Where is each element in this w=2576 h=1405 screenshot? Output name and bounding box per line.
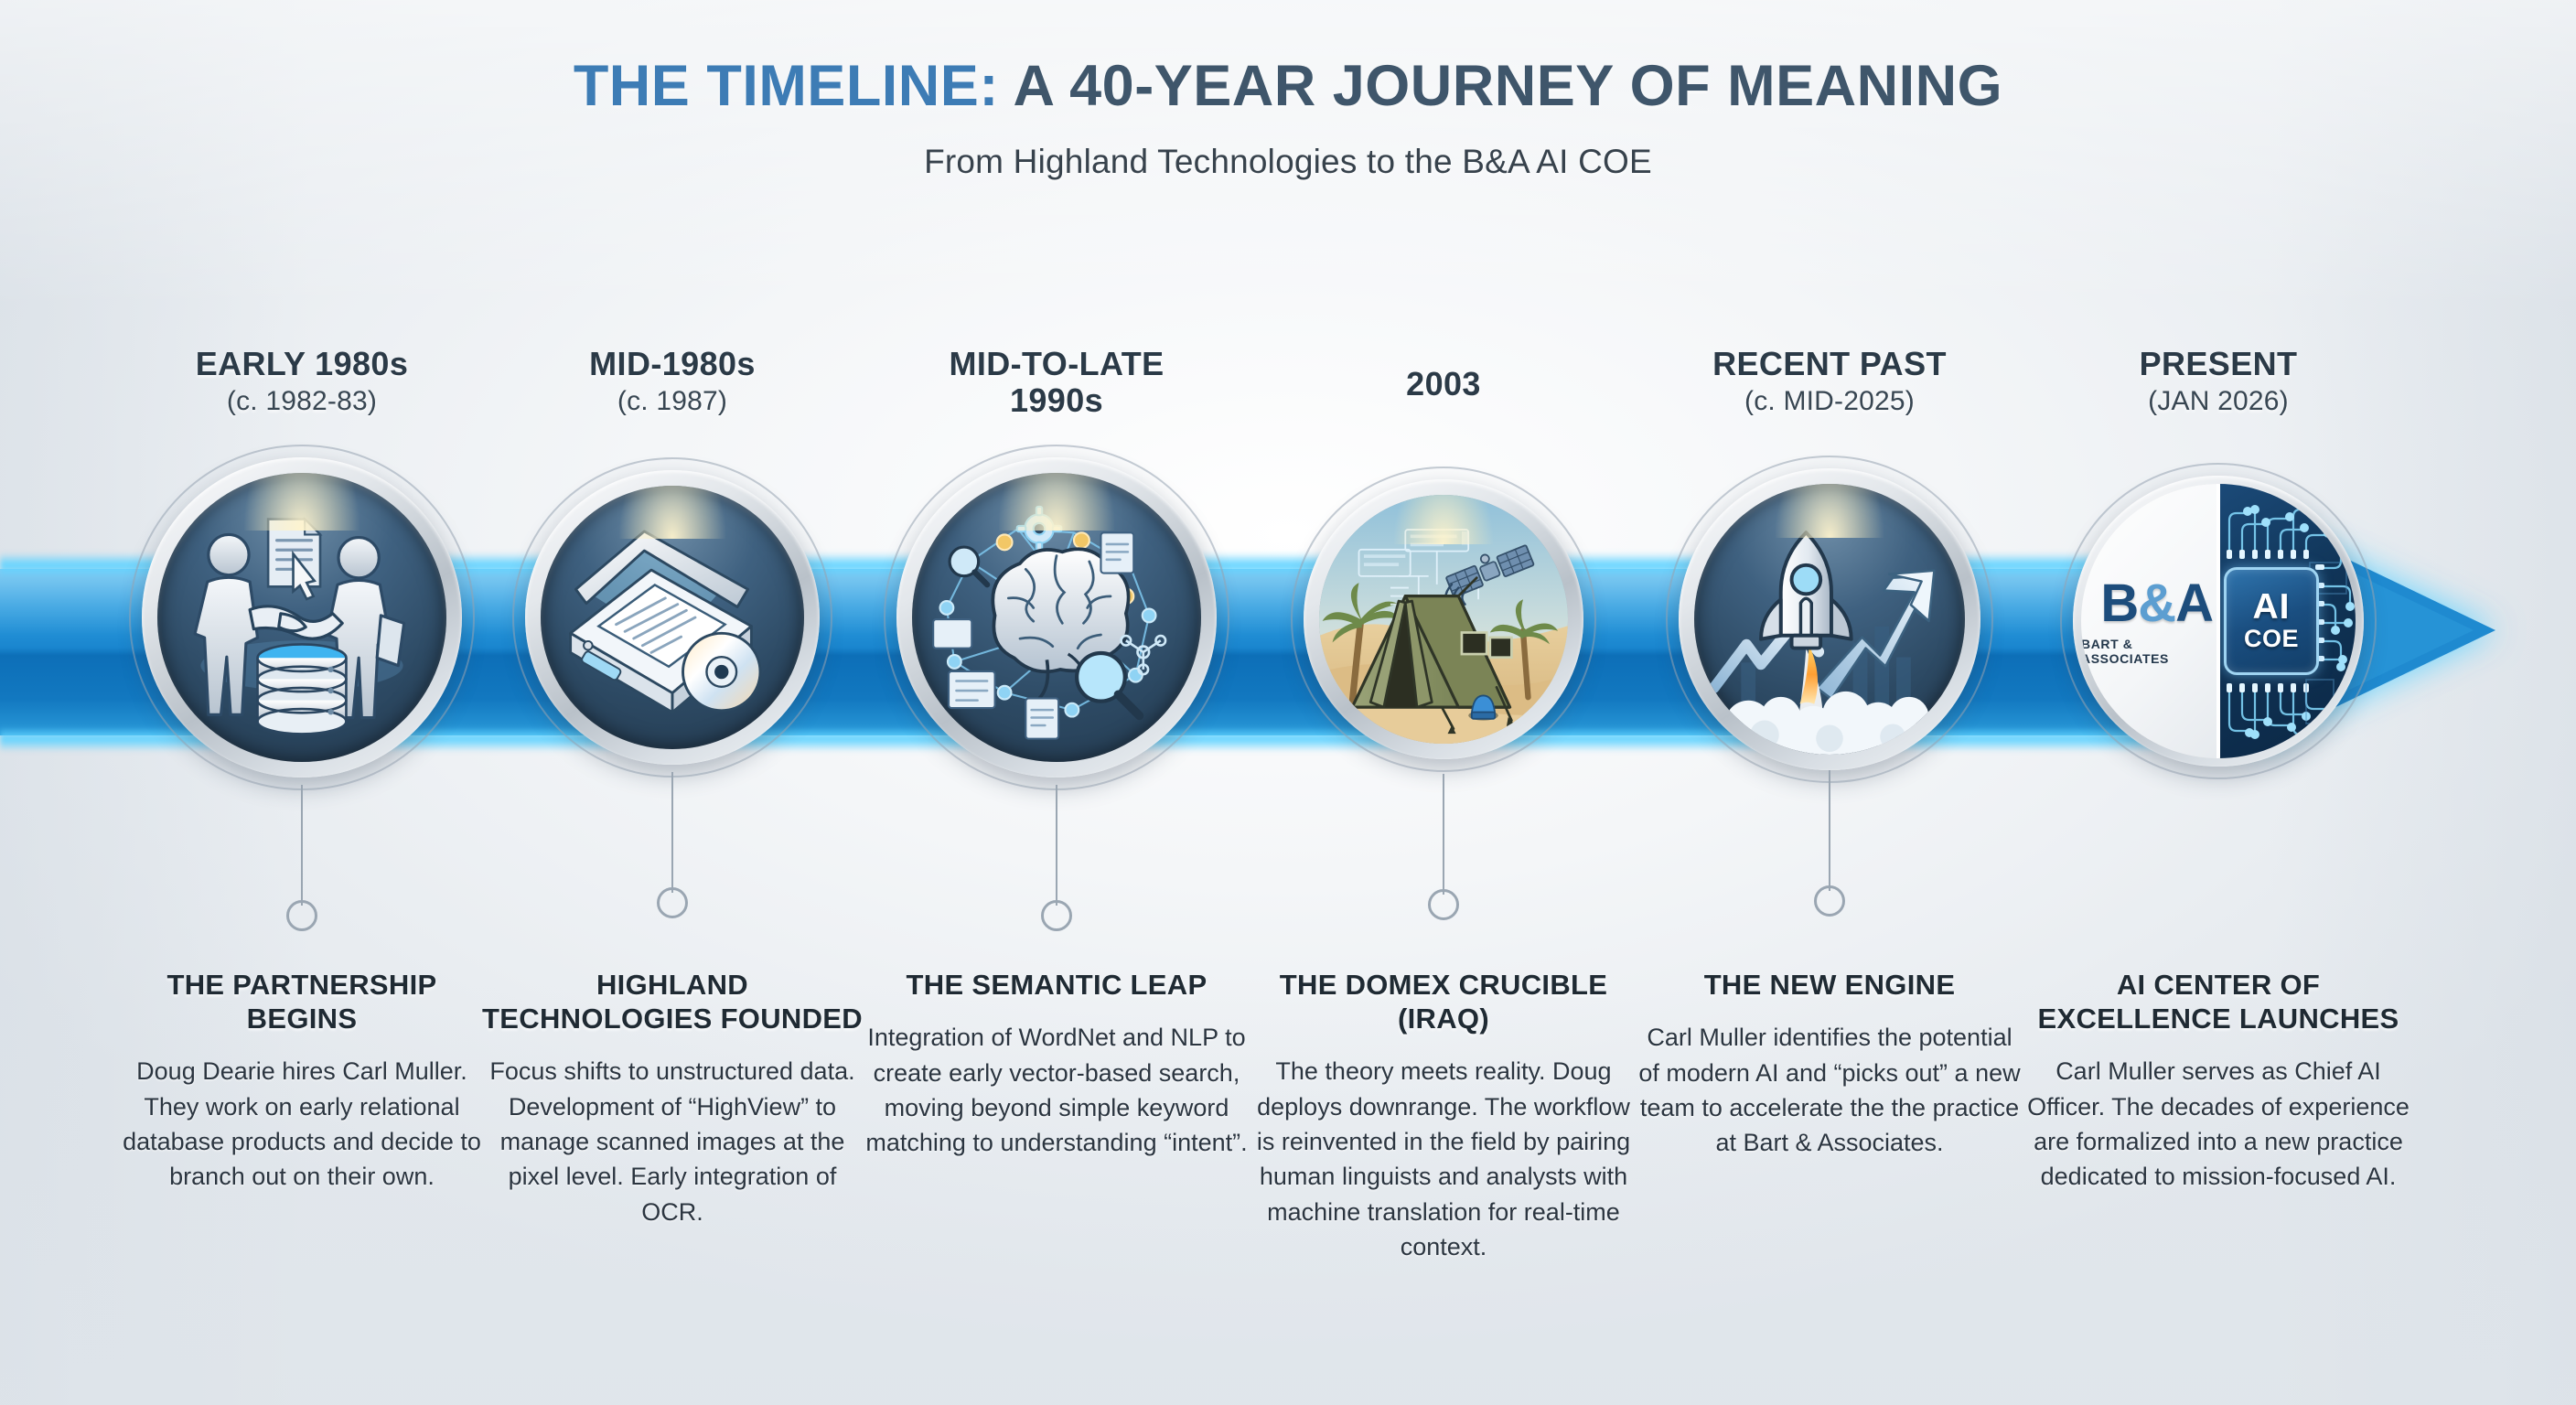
milestone-date-sub: (JAN 2026) (2017, 386, 2420, 417)
milestone-connector-line (1443, 774, 1444, 895)
page-subtitle: From Highland Technologies to the B&A AI… (0, 143, 2576, 181)
ba-wordmark: B&A (2100, 577, 2213, 630)
medallion-disc: B&A BART & ASSOCIATES (2081, 484, 2356, 758)
brain-semantic-network-icon (912, 473, 1201, 762)
ba-brand-panel: B&A BART & ASSOCIATES (2081, 484, 2218, 758)
milestone-connector-dot (657, 887, 688, 918)
milestone-connector-line (1829, 770, 1830, 891)
milestone-caption-body: Focus shifts to unstructured data. Devel… (480, 1054, 864, 1229)
milestone-medallion-2[interactable] (525, 470, 820, 765)
milestone-date-sub: (c. 1987) (471, 386, 874, 417)
milestone-caption-body: Carl Muller identifies the potential of … (1637, 1020, 2022, 1160)
milestone-connector-dot (2203, 889, 2234, 920)
milestone-medallion-6[interactable]: B&A BART & ASSOCIATES (2073, 476, 2364, 767)
medallion-disc (1694, 484, 1965, 755)
milestone-list: EARLY 1980s (c. 1982-83) (0, 0, 2576, 1405)
milestone-date-main: MID-1980s (471, 346, 874, 382)
milestone-date-4: 2003 (1242, 366, 1645, 406)
milestone-date-sub: (c. 1982-83) (101, 386, 503, 417)
page-title-accent: THE TIMELINE: (574, 54, 999, 118)
milestone-caption-title: THE SEMANTIC LEAP (864, 968, 1249, 1002)
milestone-connector-dot (1041, 900, 1072, 931)
milestone-date-main: PRESENT (2017, 346, 2420, 382)
milestone-caption-1: THE PARTNERSHIP BEGINS Doug Dearie hires… (110, 968, 494, 1195)
flatbed-scanner-icon (541, 486, 804, 749)
milestone-connector-line (2217, 774, 2219, 895)
milestone-date-5: RECENT PAST (c. MID-2025) (1628, 346, 2031, 417)
ba-letter-a: A (2175, 574, 2213, 633)
ai-chip-label: AI (2253, 589, 2291, 625)
milestone-date-2: MID-1980s (c. 1987) (471, 346, 874, 417)
milestone-date-6: PRESENT (JAN 2026) (2017, 346, 2420, 417)
milestone-connector-line (671, 772, 673, 893)
rocket-launch-growth-icon (1694, 484, 1965, 755)
milestone-connector-dot (1428, 889, 1459, 920)
coe-chip-label: COE (2244, 625, 2299, 653)
milestone-caption-body: Integration of WordNet and NLP to create… (864, 1020, 1249, 1160)
ai-coe-chip-icon: AI COE (2224, 567, 2319, 675)
milestone-caption-2: HIGHLAND TECHNOLOGIES FOUNDED Focus shif… (480, 968, 864, 1229)
milestone-date-main: EARLY 1980s (101, 346, 503, 382)
page-title-rest: A 40-YEAR JOURNEY OF MEANING (999, 54, 2002, 118)
milestone-date-sub: (c. MID-2025) (1628, 386, 2031, 417)
handshake-database-icon (157, 473, 446, 762)
medallion-disc (1319, 495, 1568, 744)
milestone-caption-title: THE NEW ENGINE (1637, 968, 2022, 1002)
header: THE TIMELINE: A 40-YEAR JOURNEY OF MEANI… (0, 53, 2576, 181)
milestone-caption-title: THE PARTNERSHIP BEGINS (110, 968, 494, 1035)
desert-tent-satellite-icon (1319, 495, 1568, 744)
milestone-medallion-1[interactable] (142, 457, 462, 778)
ba-letter-b: B (2100, 574, 2138, 633)
milestone-medallion-4[interactable] (1304, 479, 1583, 759)
ba-ampersand: & (2138, 574, 2175, 633)
milestone-caption-3: THE SEMANTIC LEAP Integration of WordNet… (864, 968, 1249, 1161)
milestone-caption-body: Carl Muller serves as Chief AI Officer. … (2026, 1054, 2410, 1194)
milestone-caption-4: THE DOMEX CRUCIBLE (IRAQ) The theory mee… (1251, 968, 1636, 1264)
milestone-caption-6: AI CENTER OF EXCELLENCE LAUNCHES Carl Mu… (2026, 968, 2410, 1195)
milestone-caption-title: HIGHLAND TECHNOLOGIES FOUNDED (480, 968, 864, 1035)
milestone-caption-title: THE DOMEX CRUCIBLE (IRAQ) (1251, 968, 1636, 1035)
medallion-disc (541, 486, 804, 749)
milestone-date-main: 2003 (1242, 366, 1645, 402)
logo-split-divider (2216, 484, 2220, 758)
milestone-date-main: MID-TO-LATE 1990s (855, 346, 1258, 420)
milestone-medallion-3[interactable] (896, 457, 1217, 778)
milestone-date-main: RECENT PAST (1628, 346, 2031, 382)
milestone-medallion-5[interactable] (1679, 468, 1980, 770)
milestone-caption-5: THE NEW ENGINE Carl Muller identifies th… (1637, 968, 2022, 1161)
milestone-connector-line (1056, 785, 1057, 906)
milestone-date-1: EARLY 1980s (c. 1982-83) (101, 346, 503, 417)
milestone-date-3: MID-TO-LATE 1990s (855, 346, 1258, 424)
medallion-disc (912, 473, 1201, 762)
milestone-connector-dot (1814, 885, 1845, 917)
milestone-caption-title: AI CENTER OF EXCELLENCE LAUNCHES (2026, 968, 2410, 1035)
milestone-caption-body: The theory meets reality. Doug deploys d… (1251, 1054, 1636, 1264)
milestone-connector-line (301, 785, 303, 906)
ba-tagline: BART & ASSOCIATES (2081, 637, 2213, 666)
page-title: THE TIMELINE: A 40-YEAR JOURNEY OF MEANI… (0, 53, 2576, 119)
ai-coe-panel: AI COE (2218, 484, 2356, 758)
milestone-connector-dot (286, 900, 317, 931)
milestone-caption-body: Doug Dearie hires Carl Muller. They work… (110, 1054, 494, 1194)
medallion-disc (157, 473, 446, 762)
infographic-canvas: THE TIMELINE: A 40-YEAR JOURNEY OF MEANI… (0, 0, 2576, 1405)
